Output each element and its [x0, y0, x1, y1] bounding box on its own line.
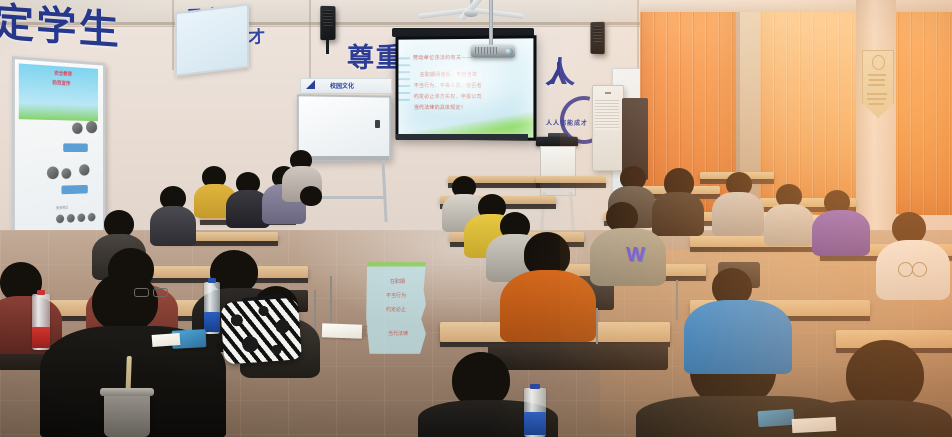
plaque-line	[868, 74, 886, 76]
poster-caption: 安全常识	[56, 205, 68, 210]
water-bottle-blue-label[interactable]	[204, 282, 220, 334]
reflection-line: 在职期	[390, 278, 405, 285]
wall-slogan-left: 定学生	[0, 0, 121, 56]
poster-icon-4	[61, 168, 71, 179]
board-label: 校园文化	[330, 81, 354, 90]
chair-leg	[676, 280, 678, 320]
reflection-line: 不当行为	[386, 292, 406, 299]
paper-sheet	[792, 417, 837, 433]
poster-heading: 安全教育	[54, 70, 72, 78]
plaque-line	[869, 103, 884, 105]
tshirt-w-logo: W	[626, 244, 645, 267]
eyeglasses-on-desk[interactable]	[134, 288, 168, 295]
chair-leg	[596, 308, 598, 344]
paper-sheet	[322, 323, 362, 338]
drink-cup-lid	[100, 388, 154, 396]
mobile-whiteboard	[297, 94, 391, 161]
wall-seam	[172, 0, 174, 70]
plaque-line	[867, 93, 887, 95]
paper-sheet	[152, 333, 181, 347]
water-bottle-red-label[interactable]	[32, 294, 50, 350]
whiteboard-marker	[375, 120, 380, 128]
poster-chip-1	[63, 143, 88, 152]
wall-speaker-right	[590, 22, 604, 54]
desk	[536, 176, 606, 183]
projector-mount-pole	[489, 0, 493, 46]
reflection-line: 当代法律	[388, 330, 408, 337]
lectern-body	[540, 146, 576, 196]
patterned-backpack[interactable]	[220, 297, 302, 364]
projection-screen-weight-bar	[396, 134, 528, 140]
plaque-emblem-icon	[872, 55, 885, 70]
classroom-photo: 定学生 是人才 人人可成才 尊重 人 安全教育 防范宣传 安全常识 劳动单位违法	[0, 0, 952, 437]
tshirt-circle-logo	[912, 262, 927, 277]
poster-subheading: 防范宣传	[52, 79, 70, 87]
wall-poster-upper-right	[175, 3, 249, 76]
wall-speaker-left	[320, 6, 335, 40]
poster-icon-8	[77, 213, 85, 222]
poster-icon-7	[67, 214, 75, 223]
projector-vent	[475, 47, 497, 54]
blinds-headrail	[640, 0, 952, 12]
poster-chip-2	[61, 185, 87, 194]
poster-icon-2	[86, 121, 97, 133]
poster-icon-5	[79, 164, 89, 175]
chair-back	[488, 344, 668, 370]
poster-icon-9	[88, 213, 96, 222]
poster-icon-6	[56, 214, 64, 223]
logo-text: 人人都能成才	[546, 118, 588, 127]
chair-leg	[330, 276, 332, 324]
pepsi-bottle[interactable]	[524, 388, 546, 437]
projector-lens	[505, 48, 513, 55]
plaque-line	[868, 84, 885, 86]
person-logo-icon	[548, 62, 568, 84]
air-conditioner-vent	[595, 100, 619, 130]
ceiling-fan-hub	[464, 10, 478, 17]
poster-icon-3	[47, 166, 59, 179]
smartphone-on-desk[interactable]	[757, 409, 794, 427]
air-conditioner-display	[605, 92, 611, 94]
board-triangle-icon	[306, 80, 315, 89]
plaque-line	[869, 79, 885, 81]
lectern-top	[536, 137, 578, 147]
drink-cup[interactable]	[104, 392, 150, 437]
framed-wall-poster: 安全教育 防范宣传 安全常识	[12, 56, 106, 247]
whiteboard-tray	[299, 156, 389, 160]
speaker-bracket	[326, 40, 329, 54]
reflection-line: 约定必止	[386, 306, 406, 313]
projection-screen: 劳动单位违法的有关—— 在职期间违反、不应当举 不当行为、平等人员、违否者 约定…	[396, 35, 537, 141]
tshirt-circle-logo	[898, 262, 913, 277]
plaque-line	[867, 98, 886, 100]
poster-icon-1	[72, 122, 82, 134]
